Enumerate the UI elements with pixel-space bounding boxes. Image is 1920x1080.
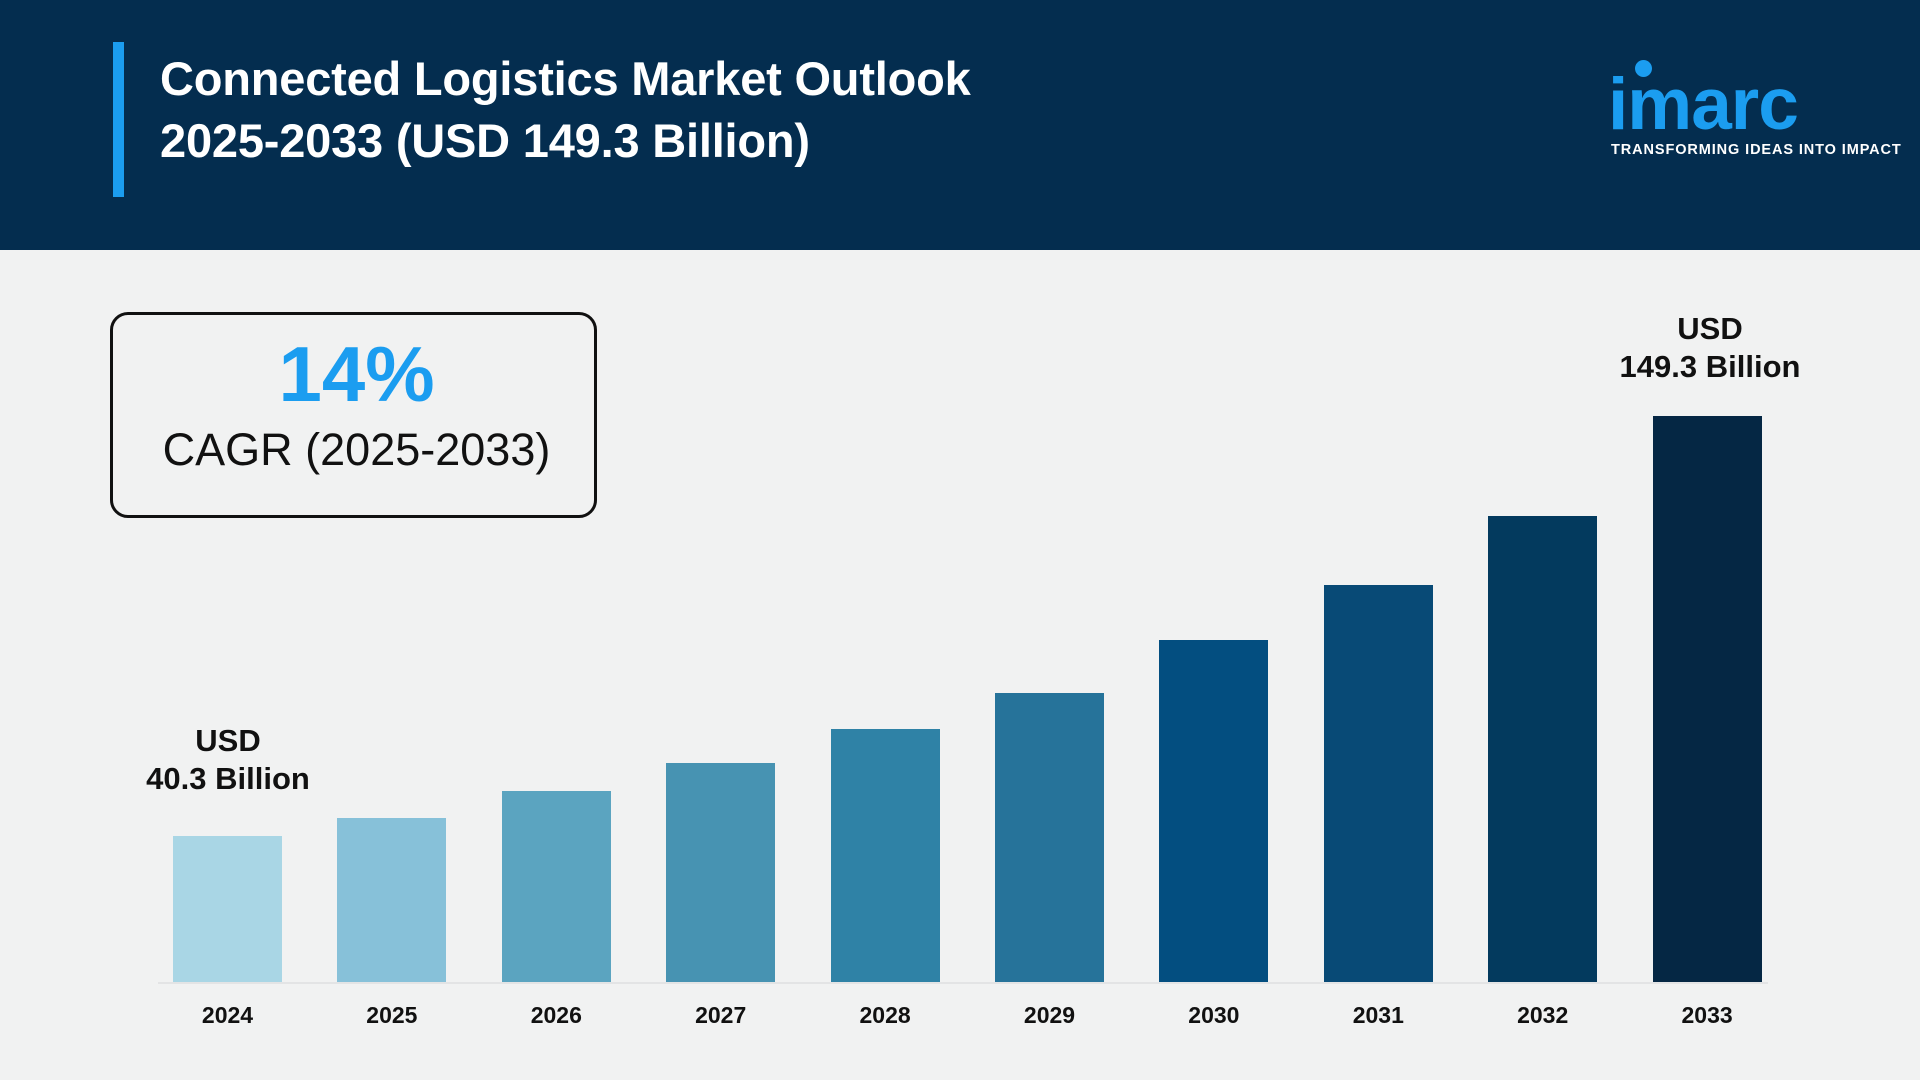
- chart-baseline: [158, 982, 1768, 984]
- bar-rect-2026: [502, 791, 611, 982]
- bar-chart: 2024202520262027202820292030203120322033…: [0, 0, 1920, 1080]
- value-callout-last: USD 149.3 Billion: [1580, 310, 1840, 387]
- bar-rect-2030: [1159, 640, 1268, 982]
- bar-rect-2033: [1653, 416, 1762, 982]
- bar-rect-2027: [666, 763, 775, 982]
- bar-rect-2024: [173, 836, 282, 982]
- bar-rect-2031: [1324, 585, 1433, 982]
- bar-rect-2028: [831, 729, 940, 982]
- bar-year-label-2029: 2029: [973, 1002, 1126, 1029]
- bar-year-label-2027: 2027: [644, 1002, 797, 1029]
- callout-first-amount: 40.3 Billion: [98, 760, 358, 798]
- bar-year-label-2028: 2028: [809, 1002, 962, 1029]
- bar-year-label-2024: 2024: [151, 1002, 304, 1029]
- bar-year-label-2026: 2026: [480, 1002, 633, 1029]
- bar-year-label-2033: 2033: [1631, 1002, 1784, 1029]
- bar-rect-2025: [337, 818, 446, 982]
- bar-rect-2032: [1488, 516, 1597, 982]
- callout-last-amount: 149.3 Billion: [1580, 348, 1840, 386]
- value-callout-first: USD 40.3 Billion: [98, 722, 358, 799]
- bar-year-label-2025: 2025: [315, 1002, 468, 1029]
- bar-year-label-2031: 2031: [1302, 1002, 1455, 1029]
- callout-first-currency: USD: [98, 722, 358, 760]
- bar-year-label-2030: 2030: [1137, 1002, 1290, 1029]
- callout-last-currency: USD: [1580, 310, 1840, 348]
- bar-rect-2029: [995, 693, 1104, 982]
- bar-year-label-2032: 2032: [1466, 1002, 1619, 1029]
